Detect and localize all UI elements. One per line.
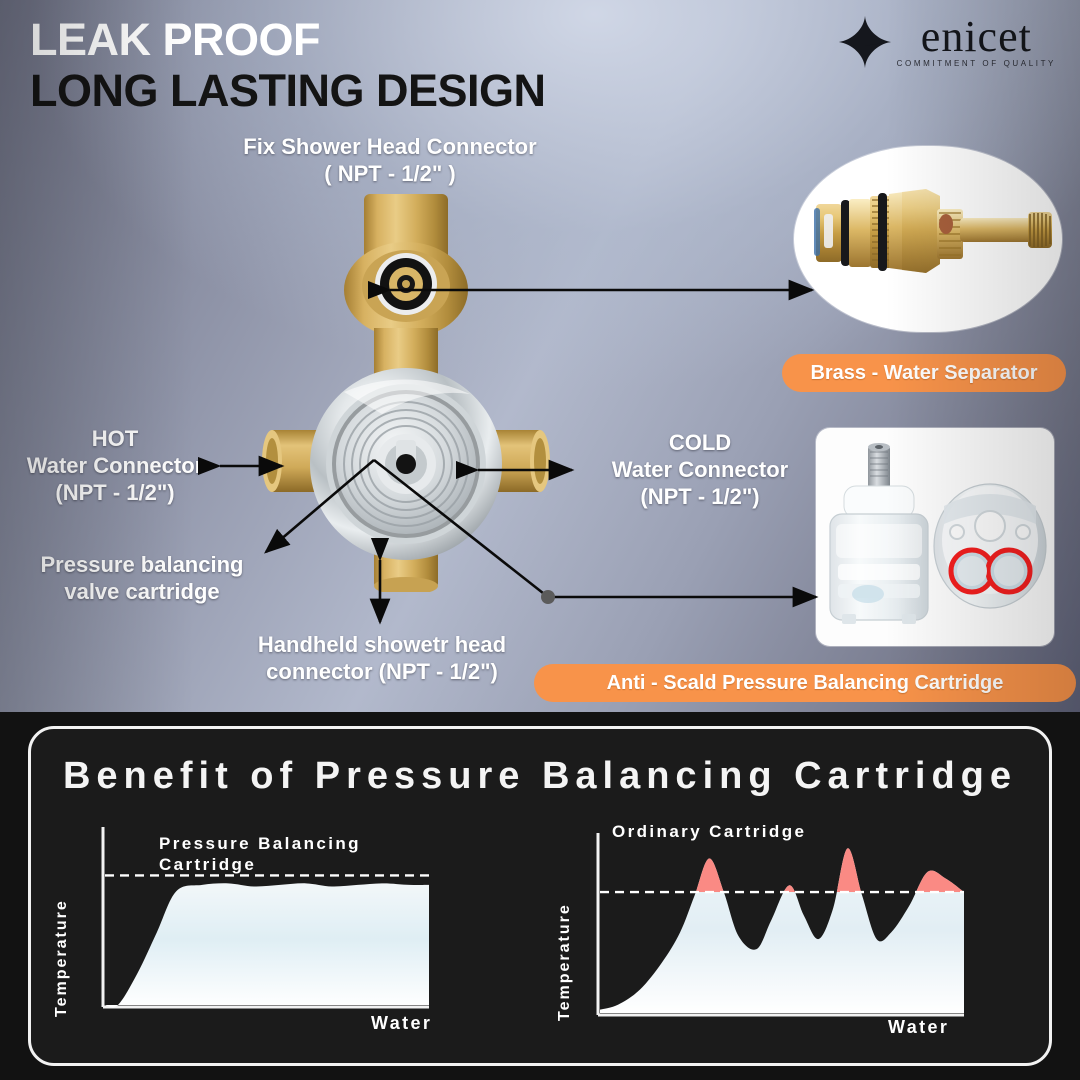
brand-tagline: COMMITMENT OF QUALITY xyxy=(897,59,1056,68)
callout-line: ( NPT - 1/2" ) xyxy=(200,161,580,188)
callout-pressure-balancing-valve: Pressure balancing valve cartridge xyxy=(12,552,272,606)
chart-ordinary-cartridge: Ordinary Cartridge Temperature Water xyxy=(540,825,1049,1055)
callout-handheld-shower-connector: Handheld showetr head connector (NPT - 1… xyxy=(222,632,542,686)
benefit-panel-title: Benefit of Pressure Balancing Cartridge xyxy=(31,755,1049,798)
page-title: LEAK PROOF LONG LASTING DESIGN xyxy=(30,18,546,113)
badge-brass-water-separator: Brass - Water Separator xyxy=(782,354,1066,392)
brass-shower-valve-photo xyxy=(256,182,556,592)
callout-fix-shower-head: Fix Shower Head Connector ( NPT - 1/2" ) xyxy=(200,134,580,188)
callout-line: COLD xyxy=(578,430,822,457)
callout-line: connector (NPT - 1/2") xyxy=(222,659,542,686)
charts-row: Pressure Balancing Cartridge Temperature… xyxy=(31,825,1049,1055)
chart-y-axis-label-right: Temperature xyxy=(556,861,574,1021)
callout-line: Pressure balancing xyxy=(12,552,272,579)
badge-anti-scald-cartridge: Anti - Scald Pressure Balancing Cartridg… xyxy=(534,664,1076,702)
chart-canvas-right xyxy=(574,829,1044,1034)
callout-line: (NPT - 1/2") xyxy=(0,480,230,507)
chart-pressure-balancing: Pressure Balancing Cartridge Temperature… xyxy=(31,825,540,1055)
callout-line: valve cartridge xyxy=(12,579,272,606)
brand-name: enicet xyxy=(921,16,1032,58)
callout-line: Water Connector xyxy=(0,453,230,480)
callout-line: Water Connector xyxy=(578,457,822,484)
chart-canvas-left xyxy=(79,825,549,1025)
callout-line: Fix Shower Head Connector xyxy=(200,134,580,161)
headline-line-2: LONG LASTING DESIGN xyxy=(30,69,546,114)
callout-line: (NPT - 1/2") xyxy=(578,484,822,511)
callout-cold-water-connector: COLD Water Connector (NPT - 1/2") xyxy=(578,430,822,510)
callout-hot-water-connector: HOT Water Connector (NPT - 1/2") xyxy=(0,426,230,506)
headline-line-1: LEAK PROOF xyxy=(30,18,546,63)
brand-logo: enicet COMMITMENT OF QUALITY xyxy=(837,14,1056,70)
infographic-root: LEAK PROOF LONG LASTING DESIGN enicet CO… xyxy=(0,0,1080,1080)
diamond-star-icon xyxy=(837,14,893,70)
hero-section: LEAK PROOF LONG LASTING DESIGN enicet CO… xyxy=(0,0,1080,712)
callout-line: HOT xyxy=(0,426,230,453)
benefit-panel: Benefit of Pressure Balancing Cartridge … xyxy=(0,712,1080,1080)
benefit-panel-box: Benefit of Pressure Balancing Cartridge … xyxy=(28,726,1052,1066)
chart-y-axis-label-left: Temperature xyxy=(53,867,71,1017)
callout-line: Handheld showetr head xyxy=(222,632,542,659)
elbow-joint-dot xyxy=(541,590,555,604)
anti-scald-cartridge-photo xyxy=(816,428,1054,646)
brass-water-separator-photo xyxy=(794,146,1062,332)
